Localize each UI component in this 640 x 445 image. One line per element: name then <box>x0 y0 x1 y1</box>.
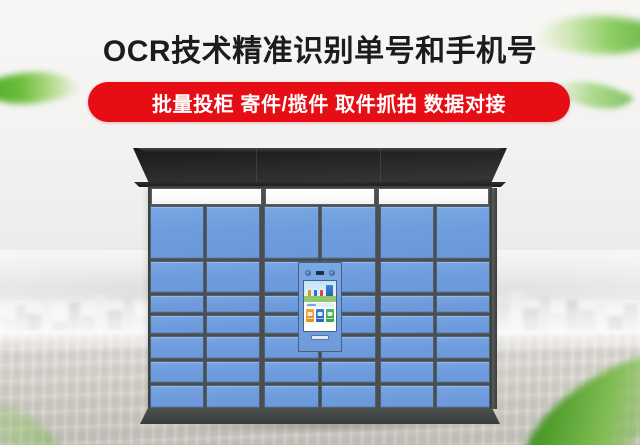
locker-door-grid <box>150 206 490 408</box>
locker-door[interactable] <box>380 385 434 408</box>
locker-door[interactable] <box>150 385 204 408</box>
locker-door[interactable] <box>436 206 490 259</box>
kiosk-sensor-strip <box>300 268 340 277</box>
locker-door[interactable] <box>436 315 490 334</box>
locker-door[interactable] <box>380 295 434 314</box>
locker-door[interactable] <box>206 295 260 314</box>
locker-door[interactable] <box>436 361 490 384</box>
locker-door[interactable] <box>264 206 319 259</box>
kiosk-deposit-button[interactable] <box>306 309 314 322</box>
locker-door[interactable] <box>150 206 204 259</box>
kiosk-status-bar <box>306 303 334 307</box>
locker-door[interactable] <box>380 206 434 259</box>
locker-door[interactable] <box>321 385 376 408</box>
locker-door[interactable] <box>206 385 260 408</box>
illustration-ground <box>304 296 336 302</box>
kiosk-pickup-button[interactable] <box>316 309 324 322</box>
kiosk-card-tray[interactable] <box>311 335 329 340</box>
locker-door[interactable] <box>436 336 490 359</box>
locker-door[interactable] <box>206 361 260 384</box>
locker-door[interactable] <box>436 261 490 293</box>
locker-door[interactable] <box>206 336 260 359</box>
locker-top-signage-row <box>150 188 490 205</box>
locker-column-left <box>150 206 260 408</box>
feature-banner: 批量投柜 寄件/揽件 取件抓拍 数据对接 <box>88 82 570 122</box>
locker-door[interactable] <box>380 336 434 359</box>
kiosk-touchscreen[interactable] <box>303 280 337 332</box>
locker-door[interactable] <box>321 361 376 384</box>
feature-banner-text: 批量投柜 寄件/揽件 取件抓拍 数据对接 <box>152 88 506 117</box>
kiosk-terminal[interactable] <box>298 262 342 352</box>
locker-door[interactable] <box>436 385 490 408</box>
banner-stage: OCR技术精准识别单号和手机号 批量投柜 寄件/揽件 取件抓拍 数据对接 <box>0 0 640 445</box>
camera-lens-icon <box>329 270 335 276</box>
locker-door[interactable] <box>150 295 204 314</box>
locker-door[interactable] <box>380 261 434 293</box>
locker-door[interactable] <box>321 206 376 259</box>
signage-panel <box>265 188 376 205</box>
locker-door[interactable] <box>150 261 204 293</box>
kiosk-screen-footer <box>304 324 336 331</box>
locker-door[interactable] <box>264 361 319 384</box>
locker-door[interactable] <box>150 315 204 334</box>
camera-lens-icon <box>305 270 311 276</box>
page-title: OCR技术精准识别单号和手机号 <box>0 26 640 70</box>
canopy-highlight <box>138 148 502 152</box>
locker-door[interactable] <box>150 336 204 359</box>
barcode-scanner-icon <box>316 271 324 275</box>
signage-panel <box>151 188 262 205</box>
locker-canopy <box>133 148 507 186</box>
locker-door[interactable] <box>264 385 319 408</box>
locker-side-wall <box>492 188 497 409</box>
locker-door[interactable] <box>436 295 490 314</box>
locker-door[interactable] <box>150 361 204 384</box>
locker-door[interactable] <box>206 261 260 293</box>
locker-base-plinth <box>140 408 500 424</box>
locker-door[interactable] <box>206 315 260 334</box>
locker-column-right <box>380 206 490 408</box>
kiosk-service-button[interactable] <box>326 309 334 322</box>
locker-door[interactable] <box>380 315 434 334</box>
kiosk-hero-illustration <box>304 281 336 302</box>
signage-panel <box>378 188 489 205</box>
locker-column-center <box>264 206 376 408</box>
locker-door[interactable] <box>380 361 434 384</box>
locker-door[interactable] <box>206 206 260 259</box>
kiosk-action-buttons <box>304 307 336 324</box>
